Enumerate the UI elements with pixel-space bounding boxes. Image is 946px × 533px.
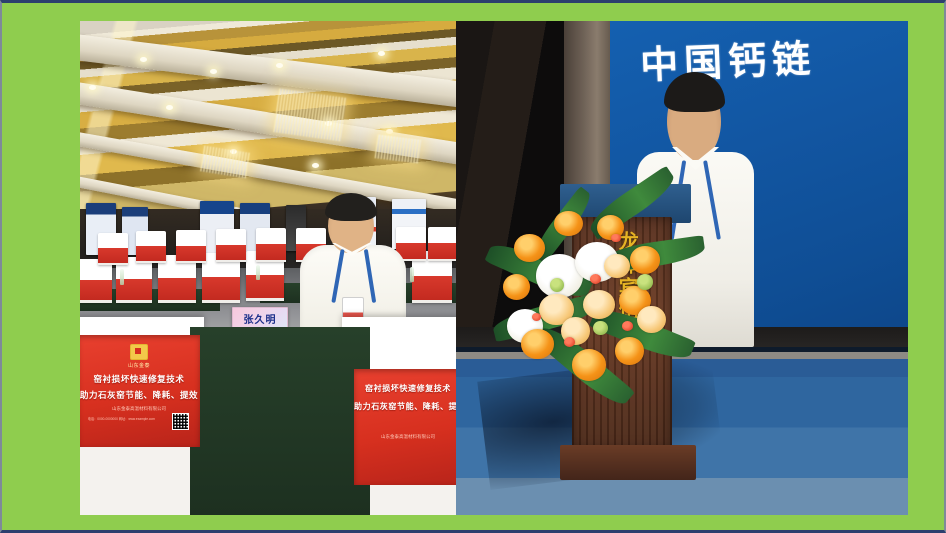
ceiling-downlight xyxy=(276,63,283,68)
draped-chair xyxy=(98,233,128,265)
ceiling-downlight xyxy=(386,129,393,134)
berry-cluster xyxy=(590,274,601,284)
foreground-table xyxy=(190,327,370,515)
ceiling-downlight xyxy=(210,69,217,74)
banner-company-name: 山东金泰高温材料有限公司 xyxy=(80,406,200,412)
photo-composite: 张久明 山东金泰 窑衬损坏快速修复技术 助力石灰窑节能、降耗、提效 山东金泰高温… xyxy=(80,21,908,515)
draped-chair xyxy=(176,230,206,263)
ceiling-downlight xyxy=(140,57,147,62)
water-bottle xyxy=(120,269,124,285)
draped-chair xyxy=(256,228,286,262)
ceiling-downlight xyxy=(89,85,96,90)
banner-headline-2: 助力石灰窑节能、降耗、提效 xyxy=(354,401,456,412)
promo-banner: 山东金泰 窑衬损坏快速修复技术 助力石灰窑节能、降耗、提效 山东金泰高温材料有限… xyxy=(80,335,200,447)
promo-banner-secondary: 窑衬损坏快速修复技术 助力石灰窑节能、降耗、提效 山东金泰高温材料有限公司 xyxy=(354,369,456,485)
banner-headline-1: 窑衬损坏快速修复技术 xyxy=(80,373,200,385)
banner-headline-1: 窑衬损坏快速修复技术 xyxy=(354,383,456,394)
slide-canvas: 张久明 山东金泰 窑衬损坏快速修复技术 助力石灰窑节能、降耗、提效 山东金泰高温… xyxy=(0,0,946,533)
desk-nameplate: 张久明 xyxy=(232,307,288,329)
crystal-chandelier xyxy=(375,134,422,163)
podium-base xyxy=(560,445,697,481)
delegate-hair xyxy=(325,193,377,221)
draped-chair xyxy=(428,227,456,261)
company-logo-icon xyxy=(130,344,148,360)
qr-code-icon xyxy=(172,413,189,430)
nameplate-text: 张久明 xyxy=(244,311,277,326)
rose-flower xyxy=(604,254,629,278)
orange-flower xyxy=(630,246,661,274)
green-bud xyxy=(550,278,564,292)
ceiling-downlight xyxy=(312,163,319,168)
brand-mark-text: 山东金泰 xyxy=(128,362,150,369)
orange-flower xyxy=(572,349,606,381)
banquet-hall-photo: 张久明 山东金泰 窑衬损坏快速修复技术 助力石灰窑节能、降耗、提效 山东金泰高温… xyxy=(80,21,456,515)
draped-chair xyxy=(136,231,166,263)
green-bud xyxy=(593,321,607,335)
crystal-chandelier xyxy=(273,88,346,141)
floral-arrangement xyxy=(510,199,691,397)
draped-chair xyxy=(80,259,112,303)
ceiling-downlight xyxy=(378,51,385,56)
berry-cluster xyxy=(611,234,620,242)
ceiling-downlight xyxy=(166,105,173,110)
green-bud xyxy=(637,274,653,290)
orange-flower xyxy=(554,211,583,237)
orange-flower xyxy=(514,234,545,262)
orange-flower xyxy=(521,329,554,359)
orange-flower xyxy=(503,274,530,300)
banner-company-name: 山东金泰高温材料有限公司 xyxy=(354,434,456,440)
banner-headline-2: 助力石灰窑节能、降耗、提效 xyxy=(80,389,200,401)
water-bottle xyxy=(256,265,260,280)
banner-contact-info: 电话：0000-0000000 网址：www.example.com xyxy=(88,417,155,422)
stage-podium-photo: 中国钙链 龙泽宾馆 xyxy=(456,21,908,515)
draped-chair xyxy=(216,229,246,262)
orange-flower xyxy=(615,337,644,365)
water-bottle xyxy=(410,267,414,282)
rose-flower xyxy=(637,306,666,334)
